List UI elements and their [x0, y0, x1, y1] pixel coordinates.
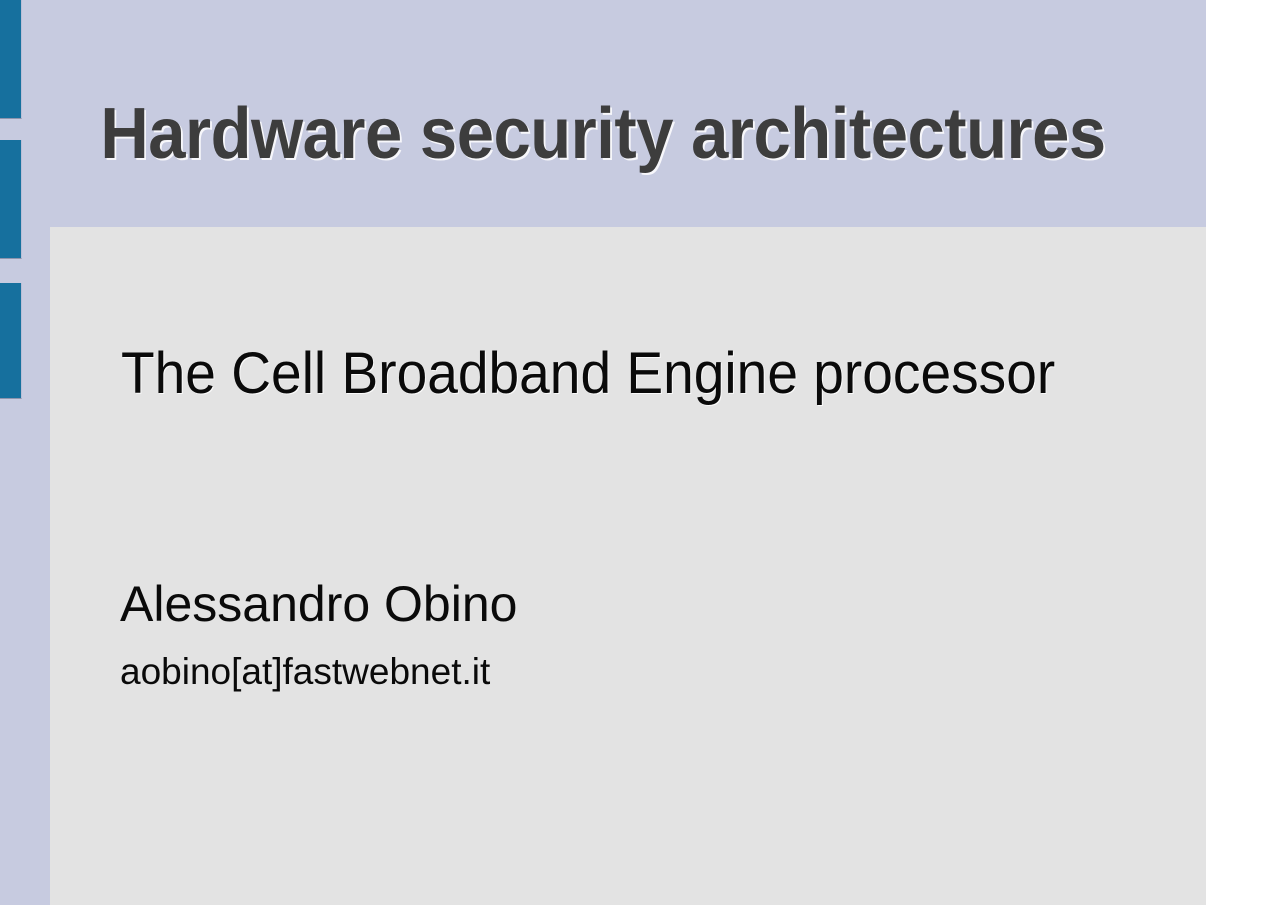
slide-subtitle: The Cell Broadband Engine processor	[121, 340, 1055, 408]
slide-title: Hardware security architectures	[98, 94, 1108, 174]
presentation-slide: Hardware security architectures The Cell…	[0, 0, 1206, 905]
blue-accent-bar-top	[0, 0, 22, 119]
author-name: Alessandro Obino	[120, 575, 517, 633]
blue-accent-bar-middle	[0, 140, 22, 259]
slide-content-panel	[50, 227, 1206, 905]
blue-accent-bar-bottom	[0, 283, 22, 399]
author-email: aobino[at]fastwebnet.it	[120, 650, 490, 694]
